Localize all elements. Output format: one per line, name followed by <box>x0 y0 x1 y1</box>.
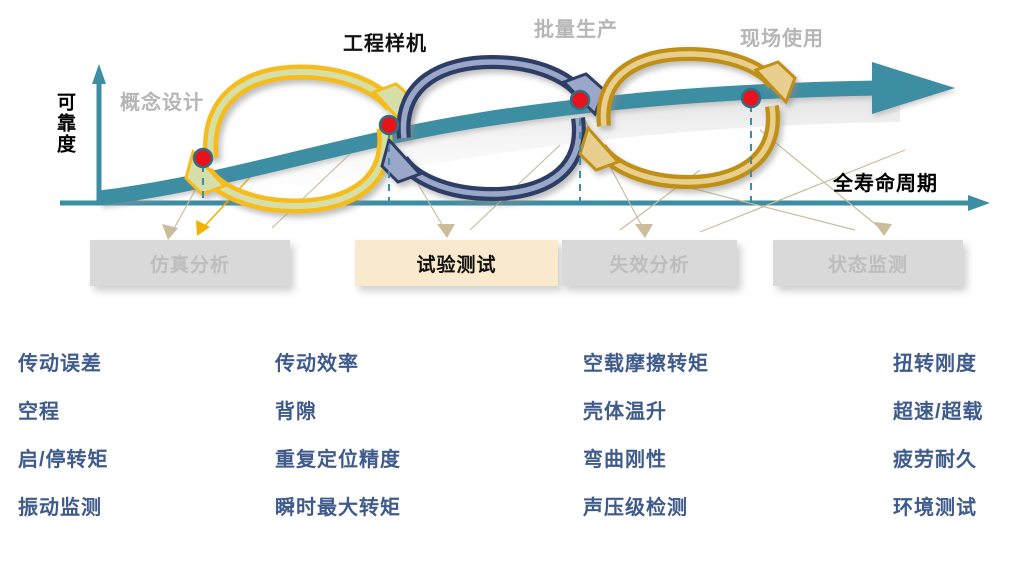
activity-box-failure-analysis[interactable]: 失效分析 <box>562 240 737 286</box>
keyword-item: 扭转刚度 <box>893 340 984 388</box>
reliability-growth-diagram: 概念设计 工程样机 批量生产 现场使用 可靠度 全寿命周期 仿真分析 试验测试 … <box>0 0 1013 330</box>
activity-box-testing[interactable]: 试验测试 <box>355 240 558 286</box>
stage-label-concept: 概念设计 <box>120 86 204 115</box>
keyword-item: 疲劳耐久 <box>893 436 984 484</box>
keyword-item: 传动效率 <box>275 340 401 388</box>
keyword-item: 传动误差 <box>18 340 109 388</box>
keyword-item: 启/停转矩 <box>18 436 109 484</box>
stage-label-field: 现场使用 <box>740 22 824 51</box>
activity-box-simulation[interactable]: 仿真分析 <box>90 240 290 286</box>
activity-box-condition-monitoring[interactable]: 状态监测 <box>773 240 963 286</box>
connector-arrowheads <box>162 222 892 240</box>
diagram-canvas: 概念设计 工程样机 批量生产 现场使用 可靠度 全寿命周期 仿真分析 试验测试 … <box>0 0 1013 563</box>
keyword-item: 弯曲刚性 <box>583 436 709 484</box>
keyword-item: 振动监测 <box>18 484 109 532</box>
milestone-dot-prototype <box>380 116 398 134</box>
keyword-item: 壳体温升 <box>583 388 709 436</box>
keyword-item: 环境测试 <box>893 484 984 532</box>
keyword-column-1: 传动误差 空程 启/停转矩 振动监测 <box>18 340 109 532</box>
milestone-dot-field <box>742 89 760 107</box>
stage-label-prototype: 工程样机 <box>343 27 427 56</box>
stage-label-production: 批量生产 <box>534 13 618 42</box>
milestone-dot-concept <box>194 149 212 167</box>
keyword-column-4: 扭转刚度 超速/超载 疲劳耐久 环境测试 <box>893 340 984 532</box>
keyword-column-2: 传动效率 背隙 重复定位精度 瞬时最大转矩 <box>275 340 401 532</box>
keyword-item: 重复定位精度 <box>275 436 401 484</box>
milestone-dot-production <box>571 91 589 109</box>
x-axis-title: 全寿命周期 <box>833 167 938 196</box>
y-axis <box>92 64 106 205</box>
keyword-column-3: 空载摩擦转矩 壳体温升 弯曲刚性 声压级检测 <box>583 340 709 532</box>
keyword-item: 空程 <box>18 388 109 436</box>
keyword-item: 背隙 <box>275 388 401 436</box>
keyword-item: 瞬时最大转矩 <box>275 484 401 532</box>
keyword-item: 空载摩擦转矩 <box>583 340 709 388</box>
keyword-item: 声压级检测 <box>583 484 709 532</box>
keyword-item: 超速/超载 <box>893 388 984 436</box>
keyword-grid: 传动误差 空程 启/停转矩 振动监测 传动效率 背隙 重复定位精度 瞬时最大转矩… <box>0 340 1013 563</box>
y-axis-title: 可靠度 <box>48 92 74 155</box>
